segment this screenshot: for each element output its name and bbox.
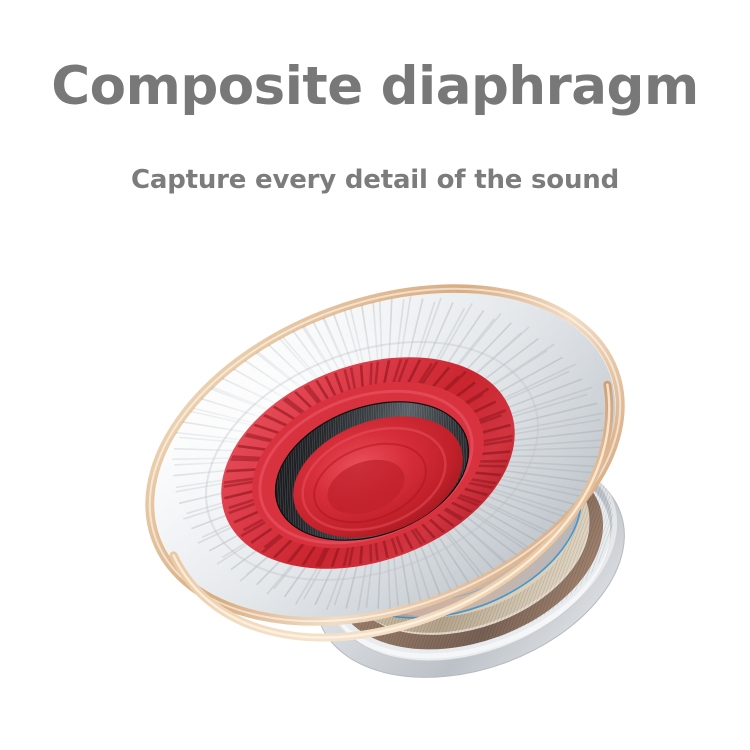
page-title: Composite diaphragm [0,58,750,116]
page-subtitle: Capture every detail of the sound [0,165,750,196]
product-banner: Composite diaphragm Capture every detail… [0,0,750,750]
product-image [0,215,750,735]
